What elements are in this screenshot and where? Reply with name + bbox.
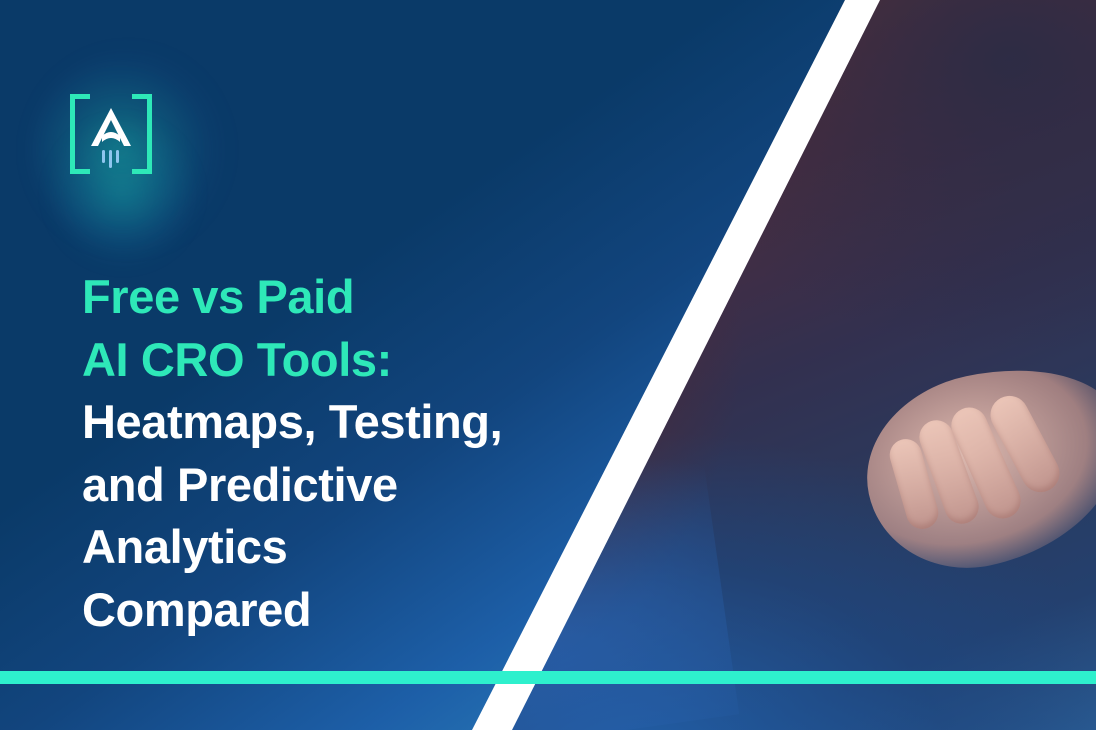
headline-line-3: Heatmaps, Testing, [82,391,622,454]
headline-line-2: AI CRO Tools: [82,329,622,392]
bracket-left-icon [70,94,90,174]
accent-bottom-bar [0,671,1096,684]
brand-logo[interactable] [70,92,152,172]
blog-banner: CRM [0,0,1096,730]
logo-tick [102,150,105,163]
logo-tick [116,150,119,163]
headline-line-4: and Predictive [82,454,622,517]
headline-line-5: Analytics [82,516,622,579]
headline-line-1: Free vs Paid [82,266,622,329]
headline-line-6: Compared [82,579,622,642]
bracket-right-icon [132,94,152,174]
page-title: Free vs Paid AI CRO Tools: Heatmaps, Tes… [82,266,622,641]
logo-tick [109,150,112,168]
logo-a-mark [89,106,133,150]
